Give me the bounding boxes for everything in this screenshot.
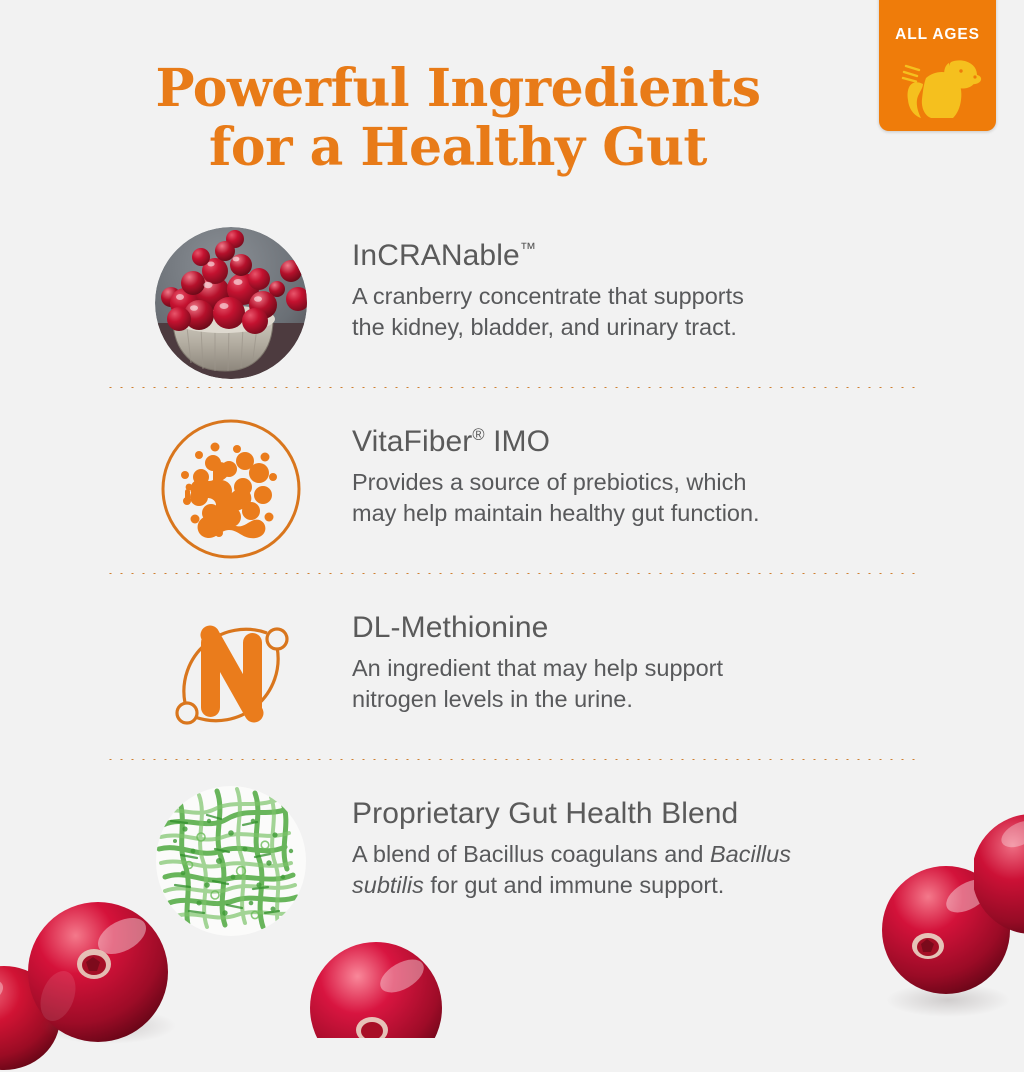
cranberry-bottom-center bbox=[298, 938, 454, 1038]
registered-symbol: ® bbox=[472, 426, 484, 444]
ingredient-title: DL-Methionine bbox=[352, 611, 723, 644]
cranberry-bowl-photo-icon bbox=[155, 227, 307, 379]
prebiotic-molecule-circle-icon bbox=[155, 413, 307, 565]
ingredient-description: Provides a source of prebiotics, which m… bbox=[352, 467, 760, 530]
ingredient-list: InCRANable™ A cranberry concentrate that… bbox=[0, 215, 1024, 959]
ingredient-description: A blend of Bacillus coagulans and Bacill… bbox=[352, 839, 791, 902]
ingredient-title: Proprietary Gut Health Blend bbox=[352, 797, 791, 830]
species-name-italic: subtilis bbox=[352, 872, 424, 898]
ingredient-description: A cranberry concentrate that supports th… bbox=[352, 281, 744, 344]
cranberry-bottom-left-large bbox=[22, 900, 182, 1050]
divider-2 bbox=[105, 572, 917, 575]
divider-1 bbox=[105, 386, 917, 389]
page-title: Powerful Ingredients for a Healthy Gut bbox=[78, 60, 838, 178]
ingredient-row-incranable: InCRANable™ A cranberry concentrate that… bbox=[0, 215, 1024, 401]
species-name-italic: Bacillus bbox=[710, 841, 791, 867]
ingredient-description: An ingredient that may help support nitr… bbox=[352, 653, 723, 716]
nitrogen-atom-icon bbox=[155, 599, 307, 751]
ingredient-title: VitaFiber® IMO bbox=[352, 425, 760, 458]
sitting-dog-icon bbox=[879, 44, 996, 126]
page-title-line-2: for a Healthy Gut bbox=[78, 119, 838, 178]
divider-3 bbox=[105, 758, 917, 761]
ingredient-row-dl-methionine: DL-Methionine An ingredient that may hel… bbox=[0, 587, 1024, 773]
cranberry-bottom-right-edge bbox=[974, 804, 1024, 954]
all-ages-label: ALL AGES bbox=[879, 26, 996, 44]
all-ages-badge: ALL AGES bbox=[879, 0, 996, 131]
trademark-symbol: ™ bbox=[520, 240, 537, 258]
ingredient-row-vitafiber: VitaFiber® IMO Provides a source of preb… bbox=[0, 401, 1024, 587]
page-title-line-1: Powerful Ingredients bbox=[78, 60, 838, 119]
ingredient-title: InCRANable™ bbox=[352, 239, 744, 272]
